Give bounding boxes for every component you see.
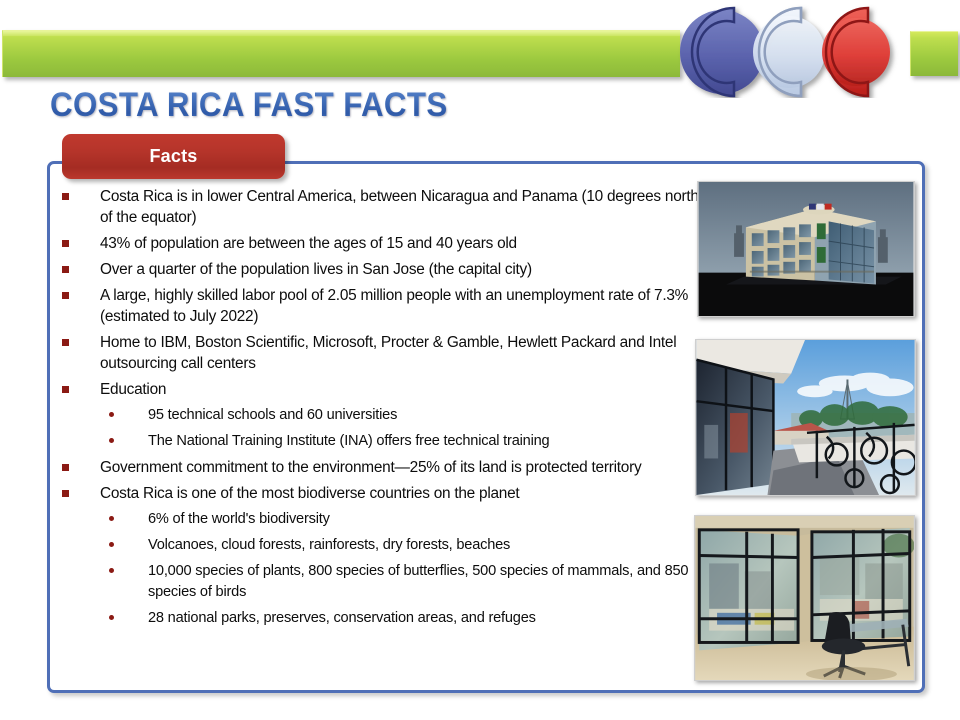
- fact-bullet-text: A large, highly skilled labor pool of 2.…: [100, 285, 704, 327]
- fact-bullet-list: Costa Rica is in lower Central America, …: [56, 186, 704, 634]
- fact-bullet-text: Education: [100, 379, 166, 400]
- fact-sub-bullet: 28 national parks, preserves, conservati…: [56, 608, 704, 629]
- fact-sub-bullet: 6% of the world's biodiversity: [56, 509, 704, 530]
- facts-tab[interactable]: Facts: [62, 134, 285, 179]
- dot-bullet-icon: [109, 568, 114, 573]
- fact-bullet: Costa Rica is one of the most biodiverse…: [56, 483, 704, 504]
- fact-bullet: Costa Rica is in lower Central America, …: [56, 186, 704, 228]
- fact-sub-bullet: 10,000 species of plants, 800 species of…: [56, 561, 704, 603]
- fact-bullet-text: 95 technical schools and 60 universities: [148, 405, 397, 426]
- photo-balcony: [695, 339, 916, 496]
- fact-bullet-text: The National Training Institute (INA) of…: [148, 431, 549, 452]
- fact-bullet: Over a quarter of the population lives i…: [56, 259, 704, 280]
- fact-bullet-text: Home to IBM, Boston Scientific, Microsof…: [100, 332, 704, 374]
- fact-bullet-text: 10,000 species of plants, 800 species of…: [148, 561, 704, 603]
- facts-tab-label: Facts: [149, 146, 197, 167]
- dot-bullet-icon: [109, 438, 114, 443]
- fact-bullet-text: 6% of the world's biodiversity: [148, 509, 330, 530]
- square-bullet-icon: [62, 490, 69, 497]
- fact-bullet: Home to IBM, Boston Scientific, Microsof…: [56, 332, 704, 374]
- square-bullet-icon: [62, 386, 69, 393]
- fact-bullet-text: Costa Rica is one of the most biodiverse…: [100, 483, 519, 504]
- dot-bullet-icon: [109, 516, 114, 521]
- square-bullet-icon: [62, 240, 69, 247]
- square-bullet-icon: [62, 464, 69, 471]
- fact-bullet-text: Costa Rica is in lower Central America, …: [100, 186, 704, 228]
- fact-bullet-text: 43% of population are between the ages o…: [100, 233, 517, 254]
- fact-bullet-text: Government commitment to the environment…: [100, 457, 641, 478]
- square-bullet-icon: [62, 266, 69, 273]
- fact-bullet-text: Over a quarter of the population lives i…: [100, 259, 532, 280]
- fact-bullet: Education: [56, 379, 704, 400]
- square-bullet-icon: [62, 193, 69, 200]
- fact-bullet-text: 28 national parks, preserves, conservati…: [148, 608, 536, 629]
- dot-bullet-icon: [109, 542, 114, 547]
- fact-bullet-text: Volcanoes, cloud forests, rainforests, d…: [148, 535, 510, 556]
- fact-bullet: A large, highly skilled labor pool of 2.…: [56, 285, 704, 327]
- square-bullet-icon: [62, 292, 69, 299]
- ccc-logo: [676, 2, 921, 98]
- photo-building: [697, 181, 915, 317]
- square-bullet-icon: [62, 339, 69, 346]
- fact-sub-bullet: The National Training Institute (INA) of…: [56, 431, 704, 452]
- dot-bullet-icon: [109, 412, 114, 417]
- page-title: COSTA RICA FAST FACTS: [50, 86, 448, 125]
- fact-bullet: Government commitment to the environment…: [56, 457, 704, 478]
- header-green-banner: [2, 30, 680, 77]
- fact-bullet: 43% of population are between the ages o…: [56, 233, 704, 254]
- photo-office: [694, 515, 915, 681]
- fact-sub-bullet: Volcanoes, cloud forests, rainforests, d…: [56, 535, 704, 556]
- dot-bullet-icon: [109, 615, 114, 620]
- fact-sub-bullet: 95 technical schools and 60 universities: [56, 405, 704, 426]
